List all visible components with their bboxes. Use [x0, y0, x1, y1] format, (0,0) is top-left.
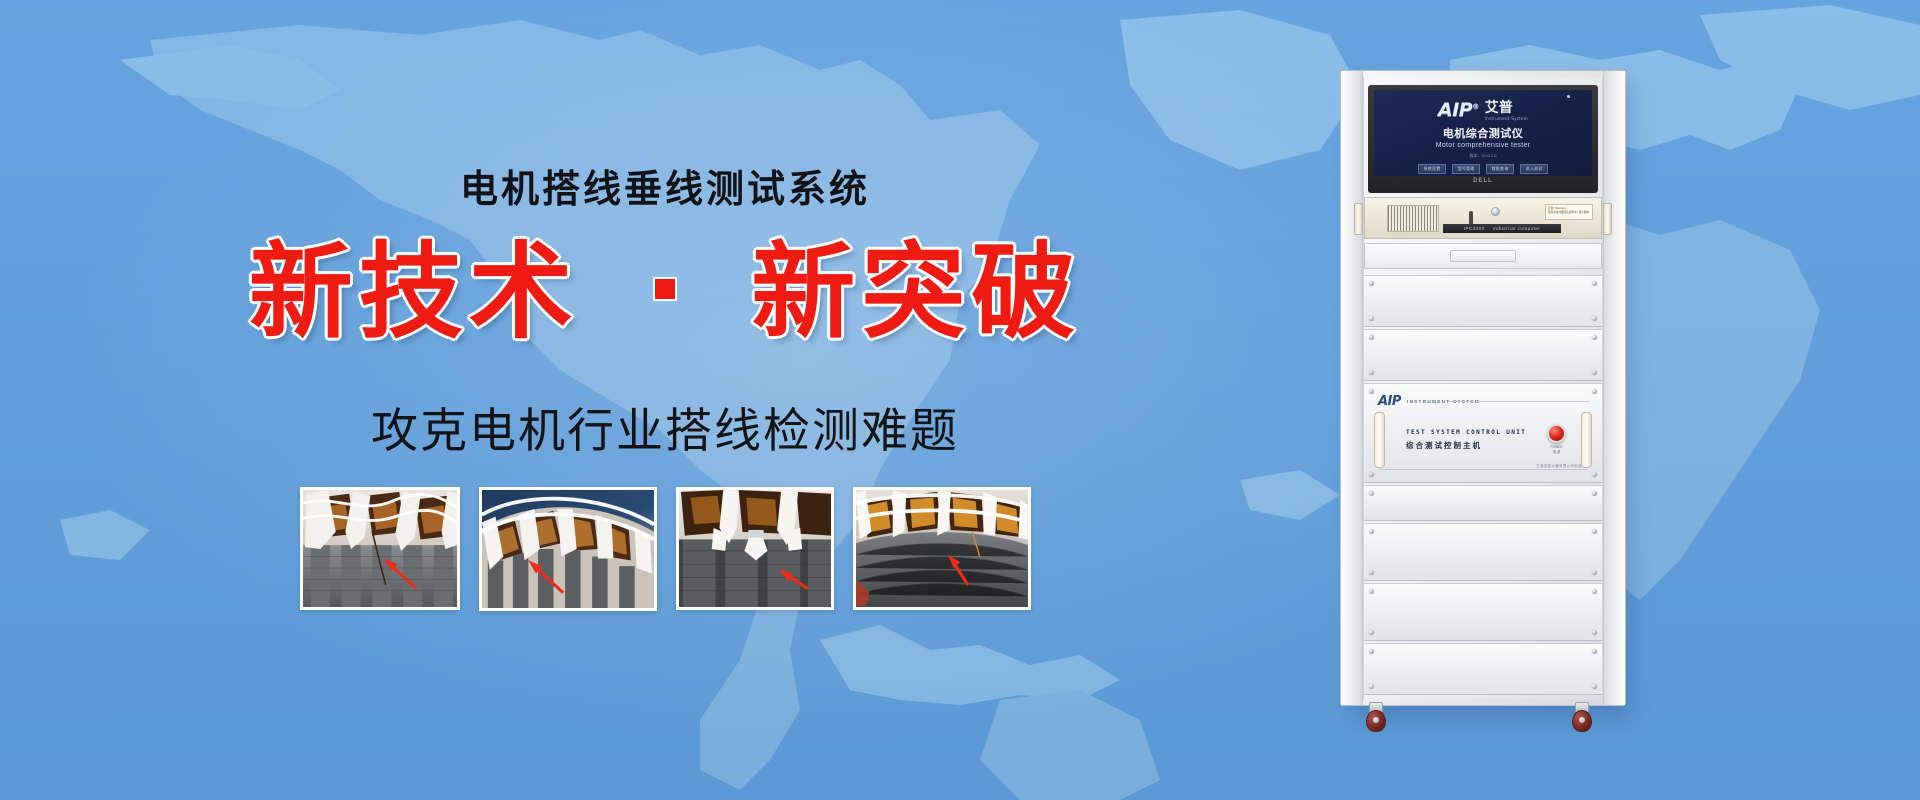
registered-mark-icon: ®	[1472, 103, 1479, 111]
ipc-power-knob[interactable]	[1491, 207, 1500, 216]
page-eyebrow-title: 电机搭线垂线测试系统	[0, 158, 1330, 213]
thumbnail-photo	[482, 490, 654, 608]
ipc-usb-slot[interactable]	[1469, 211, 1473, 225]
thumbnail-stator-winding-closeup-2[interactable]	[479, 487, 657, 611]
blank-panel-2	[1364, 329, 1602, 381]
panel-rivet	[1369, 491, 1374, 496]
control-unit-footer-text: 艾普智能仪器有限公司制造	[1537, 463, 1582, 468]
panel-rivet	[1369, 630, 1374, 635]
ipc-handle-left[interactable]	[1354, 203, 1363, 235]
caster-wheel-left	[1366, 702, 1386, 732]
panel-rivet	[1369, 684, 1374, 689]
control-unit-divider	[1448, 401, 1590, 402]
screen-button-row: 系统设置 型号管理 数据查询 进入测试	[1374, 164, 1592, 174]
panel-rivet	[1369, 529, 1374, 534]
control-unit-title-cn: 综合测试控制主机	[1406, 440, 1482, 451]
control-unit-handle-right[interactable]	[1581, 412, 1592, 468]
panel-rivet	[1592, 472, 1597, 477]
panel-rivet	[1369, 589, 1374, 594]
screen-button-start-test[interactable]: 进入测试	[1520, 164, 1548, 174]
headline-left-text: 新技术	[249, 231, 579, 353]
panel-rivet	[1592, 370, 1597, 375]
panel-rivet	[1592, 316, 1597, 321]
instrument-cabinet: AIP® 艾普 Instrument System 电机综合测试仪 Motor …	[1340, 70, 1640, 730]
copy-block: 电机搭线垂线测试系统 新技术 新突破 攻克电机行业搭线检测难题	[0, 0, 1330, 800]
ipc-warning-body: 使用前请详细阅读说明书 / 防止触电	[1548, 211, 1590, 215]
page-subtitle: 攻克电机行业搭线检测难题	[0, 392, 1330, 461]
caster-axle	[1579, 717, 1585, 723]
screen-version-text: 版本：V2.0.1.0	[1374, 153, 1592, 159]
screen-title-cn: 电机综合测试仪	[1374, 125, 1592, 141]
page-headline: 新技术 新突破	[0, 236, 1330, 348]
panel-rivet	[1369, 370, 1374, 375]
aip-logo-text: AIP	[1438, 99, 1472, 121]
panel-rivet	[1592, 491, 1597, 496]
aip-brand-cn-sub: Instrument System	[1485, 117, 1528, 121]
panel-rivet	[1369, 335, 1374, 340]
screen-button-system-settings[interactable]: 系统设置	[1418, 164, 1446, 174]
ipc-model-strip: IPC4300 Industrial computer	[1443, 224, 1561, 233]
panel-rivet	[1592, 570, 1597, 575]
panel-rivet	[1369, 281, 1374, 286]
blank-panel-6	[1364, 643, 1602, 695]
monitor-brand-label: DELL	[1374, 178, 1592, 184]
thumbnail-strip	[0, 487, 1330, 611]
power-label-cn: 电 源	[1539, 450, 1574, 455]
cabinet-rail-left	[1341, 71, 1363, 705]
control-unit-handle-left[interactable]	[1374, 412, 1385, 468]
ipc-model-number: IPC4300	[1464, 226, 1485, 231]
panel-rivet	[1592, 630, 1597, 635]
control-unit-aip-logo: AIP	[1378, 394, 1401, 409]
blank-panel-3	[1364, 485, 1602, 521]
headline-separator-dot	[655, 279, 675, 299]
monitor: AIP® 艾普 Instrument System 电机综合测试仪 Motor …	[1368, 85, 1598, 193]
panel-rivet	[1592, 389, 1597, 394]
panel-rivet	[1592, 684, 1597, 689]
thumbnail-stator-winding-closeup-3[interactable]	[676, 487, 834, 610]
ipc-warning-label: 注意 / Warning 使用前请详细阅读说明书 / 防止触电	[1545, 204, 1593, 220]
ipc-model-name: Industrial computer	[1493, 226, 1541, 231]
panel-rivet	[1592, 529, 1597, 534]
blank-panel-1	[1364, 275, 1602, 327]
power-button[interactable]	[1547, 424, 1566, 443]
screen-title-en: Motor comprehensive tester	[1374, 142, 1592, 149]
panel-rivet	[1592, 335, 1597, 340]
blank-panel-5	[1364, 583, 1602, 641]
aip-logo: AIP®	[1438, 99, 1479, 121]
control-unit-footer-divider	[1378, 469, 1588, 470]
thumbnail-photo	[679, 490, 831, 607]
industrial-computer-unit: 注意 / Warning 使用前请详细阅读说明书 / 防止触电 IPC4300 …	[1364, 197, 1602, 239]
panel-rivet	[1592, 281, 1597, 286]
test-system-control-unit: AIP INSTRUMENT SYSTEM TEST SYSTEM CONTRO…	[1364, 383, 1602, 483]
thumbnail-stator-winding-closeup-1[interactable]	[300, 487, 460, 610]
cabinet-rack-area: AIP® 艾普 Instrument System 电机综合测试仪 Motor …	[1363, 77, 1603, 699]
ipc-handle-right[interactable]	[1603, 203, 1612, 235]
panel-rivet	[1592, 649, 1597, 654]
aip-brand-cn-text: 艾普	[1485, 100, 1513, 116]
aip-brand-cn: 艾普 Instrument System	[1485, 99, 1528, 121]
power-button-label: POWER 电 源	[1539, 445, 1574, 455]
panel-rivet	[1369, 570, 1374, 575]
screen-brand-row: AIP® 艾普 Instrument System	[1374, 99, 1592, 121]
thumbnail-photo	[856, 490, 1028, 607]
screen-button-data-query[interactable]: 数据查询	[1486, 164, 1514, 174]
cabinet-rail-right	[1603, 71, 1625, 705]
panel-rivet	[1592, 589, 1597, 594]
cabinet-body: AIP® 艾普 Instrument System 电机综合测试仪 Motor …	[1340, 70, 1626, 706]
drawer-pull-handle[interactable]	[1450, 250, 1516, 262]
panel-rivet	[1369, 649, 1374, 654]
caster-wheel-right	[1572, 702, 1592, 732]
promo-banner: 电机搭线垂线测试系统 新技术 新突破 攻克电机行业搭线检测难题	[0, 0, 1920, 800]
screen-button-model-management[interactable]: 型号管理	[1452, 164, 1480, 174]
caster-axle	[1373, 717, 1379, 723]
monitor-screen[interactable]: AIP® 艾普 Instrument System 电机综合测试仪 Motor …	[1374, 90, 1592, 176]
panel-rivet	[1369, 472, 1374, 477]
thumbnail-stator-winding-closeup-4[interactable]	[853, 487, 1031, 610]
blank-panel-4	[1364, 523, 1602, 581]
headline-right-text: 新突破	[751, 231, 1081, 353]
ipc-vent-grille	[1387, 205, 1439, 232]
thumbnail-photo	[303, 490, 457, 607]
control-unit-title-en: TEST SYSTEM CONTROL UNIT	[1406, 429, 1526, 436]
panel-rivet	[1369, 389, 1374, 394]
keyboard-drawer[interactable]	[1364, 243, 1602, 269]
panel-rivet	[1369, 316, 1374, 321]
